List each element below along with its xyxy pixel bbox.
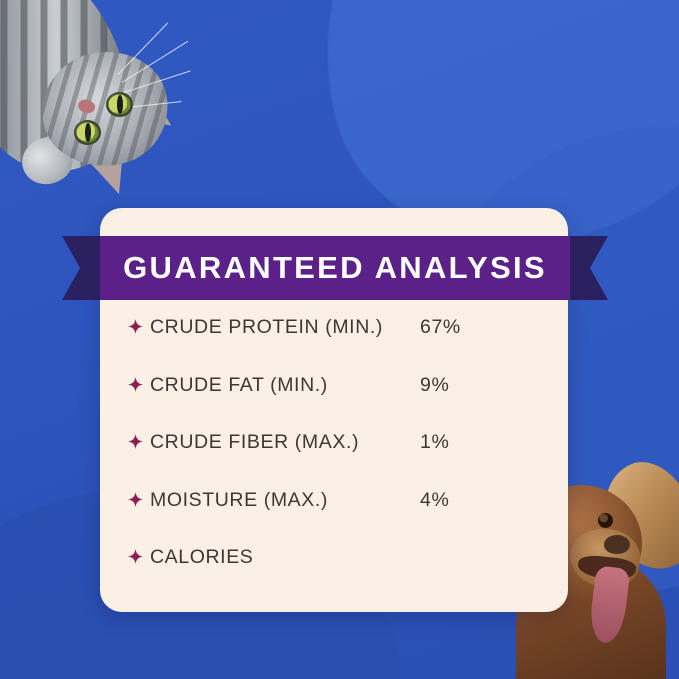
- analysis-row-value: 1%: [420, 431, 449, 454]
- sparkle-bullet: [128, 434, 150, 454]
- analysis-row-label: MOISTURE (MAX.): [150, 489, 328, 512]
- analysis-row: CRUDE PROTEIN (MIN.)67%: [128, 316, 548, 374]
- analysis-list: CRUDE PROTEIN (MIN.)67%CRUDE FAT (MIN.)9…: [128, 316, 548, 604]
- analysis-row-value: 9%: [420, 374, 449, 397]
- analysis-row-label: CRUDE FAT (MIN.): [150, 374, 328, 397]
- analysis-row-label: CRUDE FIBER (MAX.): [150, 431, 359, 454]
- analysis-row: MOISTURE (MAX.)4%: [128, 489, 548, 547]
- cat-eye: [106, 92, 133, 117]
- page-title: GUARANTEED ANALYSIS: [100, 236, 570, 300]
- analysis-row-value: 4%: [420, 489, 449, 512]
- sparkle-bullet-icon: [128, 549, 143, 564]
- analysis-row: CRUDE FAT (MIN.)9%: [128, 374, 548, 432]
- sparkle-bullet-icon: [128, 492, 143, 507]
- sparkle-bullet: [128, 377, 150, 397]
- analysis-row-value: 67%: [420, 316, 461, 339]
- dog-eye: [598, 513, 613, 528]
- ribbon-header: GUARANTEED ANALYSIS: [62, 236, 608, 300]
- cat-photo: [0, 0, 216, 218]
- sparkle-bullet: [128, 492, 150, 512]
- sparkle-bullet-icon: [128, 434, 143, 449]
- analysis-row-label: CRUDE PROTEIN (MIN.): [150, 316, 383, 339]
- sparkle-bullet-icon: [128, 377, 143, 392]
- sparkle-bullet: [128, 549, 150, 569]
- cat-eye: [74, 120, 101, 145]
- analysis-row: CRUDE FIBER (MAX.)1%: [128, 431, 548, 489]
- analysis-row-label: CALORIES: [150, 546, 253, 569]
- sparkle-bullet: [128, 319, 150, 339]
- dog-nose: [604, 535, 630, 554]
- sparkle-bullet-icon: [128, 319, 143, 334]
- analysis-row: CALORIES: [128, 546, 548, 604]
- product-label-graphic: GUARANTEED ANALYSIS CRUDE PROTEIN (MIN.)…: [0, 0, 679, 679]
